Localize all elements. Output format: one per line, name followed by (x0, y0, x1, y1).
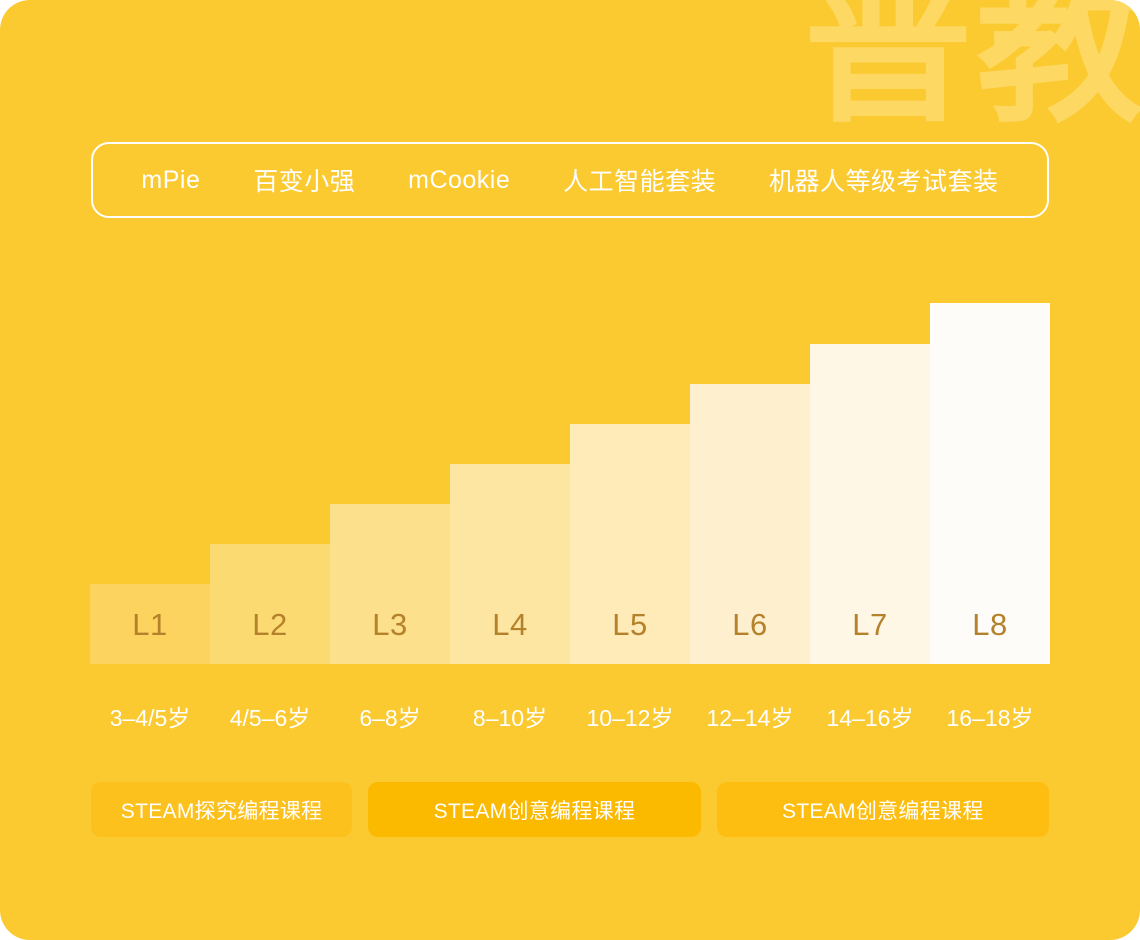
bar-label-l1: L1 (132, 607, 167, 664)
pill-item-1[interactable]: mPie (141, 166, 200, 195)
pill-item-5[interactable]: 机器人等级考试套装 (769, 162, 999, 198)
bar-l1[interactable]: L1 (90, 584, 210, 664)
age-range-row: 3–4/5岁4/5–6岁6–8岁8–10岁10–12岁12–14岁14–16岁1… (90, 698, 1050, 738)
infographic-page: 普教 mPie百变小强mCookie人工智能套装机器人等级考试套装 L1L2L3… (0, 0, 1140, 940)
bar-l3[interactable]: L3 (330, 504, 450, 664)
age-label-6: 12–14岁 (690, 698, 810, 738)
bar-label-l5: L5 (612, 607, 647, 664)
age-label-8: 16–18岁 (930, 698, 1050, 738)
bar-l8[interactable]: L8 (930, 303, 1050, 664)
bar-l6[interactable]: L6 (690, 384, 810, 664)
course-button-3[interactable]: STEAM创意编程课程 (717, 782, 1049, 837)
bar-label-l3: L3 (372, 607, 407, 664)
bar-label-l6: L6 (732, 607, 767, 664)
age-label-2: 4/5–6岁 (210, 698, 330, 738)
bar-label-l7: L7 (852, 607, 887, 664)
pill-item-4[interactable]: 人工智能套装 (563, 162, 716, 198)
bar-l2[interactable]: L2 (210, 544, 330, 664)
bar-label-l4: L4 (492, 607, 527, 664)
bar-label-l8: L8 (972, 607, 1007, 664)
level-bar-chart: L1L2L3L4L5L6L7L8 (90, 296, 1050, 664)
age-label-4: 8–10岁 (450, 698, 570, 738)
pill-item-2[interactable]: 百变小强 (253, 162, 355, 198)
chart-baseline (90, 664, 1050, 668)
course-button-row: STEAM探究编程课程STEAM创意编程课程STEAM创意编程课程 (91, 782, 1049, 837)
pill-item-3[interactable]: mCookie (408, 166, 510, 195)
age-label-5: 10–12岁 (570, 698, 690, 738)
age-label-3: 6–8岁 (330, 698, 450, 738)
watermark-text: 普教 (804, 0, 1140, 132)
bar-l7[interactable]: L7 (810, 344, 930, 664)
product-pill-bar: mPie百变小强mCookie人工智能套装机器人等级考试套装 (91, 142, 1049, 218)
course-button-1[interactable]: STEAM探究编程课程 (91, 782, 352, 837)
age-label-7: 14–16岁 (810, 698, 930, 738)
age-label-1: 3–4/5岁 (90, 698, 210, 738)
bar-l5[interactable]: L5 (570, 424, 690, 664)
bar-label-l2: L2 (252, 607, 287, 664)
bar-l4[interactable]: L4 (450, 464, 570, 664)
course-button-2[interactable]: STEAM创意编程课程 (368, 782, 700, 837)
